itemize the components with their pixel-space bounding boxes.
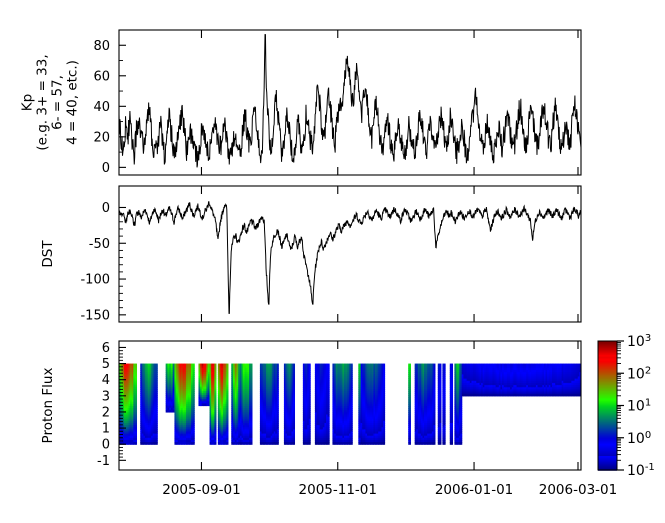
heatmap-cell xyxy=(251,442,253,445)
heatmap-cell xyxy=(214,442,216,445)
y-tick-label: -50 xyxy=(89,237,110,252)
figure-canvas: 020406080Kp(e.g. 3+ = 33,6- = 57,4 = 40,… xyxy=(0,0,665,523)
plot-figure: 020406080Kp(e.g. 3+ = 33,6- = 57,4 = 40,… xyxy=(0,0,665,523)
kp-axis-label: Kp(e.g. 3+ = 33,6- = 57,4 = 40, etc.) xyxy=(20,54,81,150)
heatmap-cell xyxy=(351,442,353,445)
y-tick-label: 0 xyxy=(102,161,110,176)
heatmap-cell xyxy=(293,442,295,445)
kp-axis-label-line: Kp xyxy=(20,94,36,111)
heatmap-cell xyxy=(383,442,385,445)
dst-axis-label: DST xyxy=(40,240,56,268)
proton-flux-heatmap xyxy=(119,364,581,445)
kp-panel: 020406080 xyxy=(93,30,581,176)
dst-panel: 0-50-100-150 xyxy=(80,186,581,323)
kp-axis-label-line: 4 = 40, etc.) xyxy=(65,60,81,145)
kp-axis-label-line: (e.g. 3+ = 33, xyxy=(35,54,51,150)
y-tick-label: 80 xyxy=(93,39,110,54)
dst-series xyxy=(119,201,581,313)
y-tick-label: -100 xyxy=(80,273,110,288)
y-tick-label: 40 xyxy=(93,100,110,115)
heatmap-cell xyxy=(328,442,330,445)
heatmap-cell xyxy=(135,442,137,445)
y-tick-label: 0 xyxy=(102,201,110,216)
heatmap-cell xyxy=(309,442,311,445)
kp-axis-label-line: 6- = 57, xyxy=(50,75,66,130)
y-tick-label: 60 xyxy=(93,69,110,84)
kp-series xyxy=(119,35,581,168)
y-tick-label: -150 xyxy=(80,308,110,323)
heatmap-cell xyxy=(277,442,279,445)
y-tick-label: 20 xyxy=(93,130,110,145)
heatmap-cell xyxy=(193,442,195,445)
heatmap-cell xyxy=(156,442,158,445)
heatmap-cell xyxy=(408,442,411,445)
proton-flux-panel: -101234562005-09-012005-11-012006-01-012… xyxy=(97,341,617,498)
heatmap-cell xyxy=(226,442,228,445)
